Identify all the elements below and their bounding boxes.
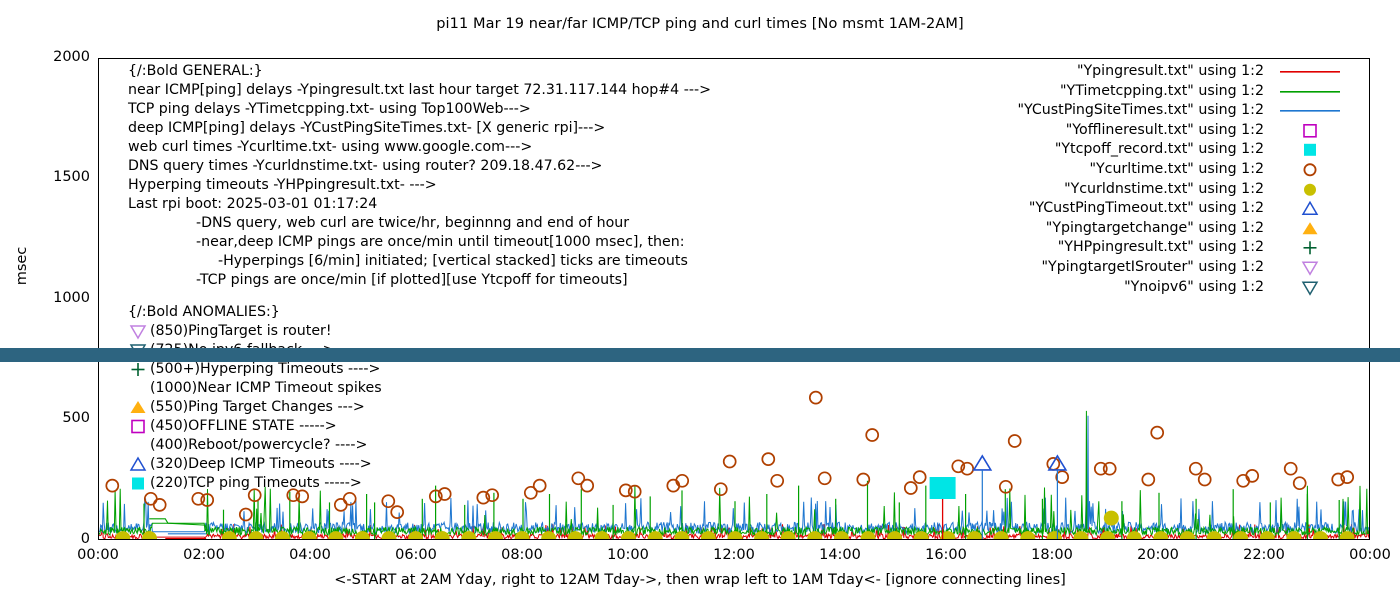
legend-entry[interactable]: "YTimetcpping.txt" using 1:2 (930, 82, 1362, 102)
anomaly-label: (220)TCP ping Timeouts -----> (150, 474, 362, 493)
legend-entry[interactable]: "YpingtargetISrouter" using 1:2 (930, 258, 1362, 278)
x-tick-9: 18:00 (1012, 547, 1092, 563)
legend-key-line-icon (1278, 101, 1362, 121)
anomaly-label: (450)OFFLINE STATE -----> (150, 417, 337, 436)
y-tick-0: 0 (16, 531, 90, 547)
y-tick-1500: 1500 (16, 169, 90, 185)
triangle-orange-filled-icon (128, 398, 150, 417)
legend-label: "Ycurltime.txt" using 1:2 (930, 160, 1278, 180)
general-line-4: DNS query times -Ycurldnstime.txt- using… (128, 157, 711, 176)
legend-entry[interactable]: "YCustPingTimeout.txt" using 1:2 (930, 199, 1362, 219)
marker-curl-time (391, 506, 403, 518)
marker-curl-time (866, 429, 878, 441)
legend-label: "YCustPingSiteTimes.txt" using 1:2 (930, 101, 1278, 121)
marker-curl-time (1199, 474, 1211, 486)
marker-dns-time (807, 531, 822, 540)
marker-curl-time (771, 475, 783, 487)
legend-entry[interactable]: "Ypingtargetchange" using 1:2 (930, 219, 1362, 239)
legend-label: "Ytcpoff_record.txt" using 1:2 (930, 140, 1278, 160)
marker-curl-time (1104, 463, 1116, 475)
legend-key-square-open-icon (1278, 121, 1362, 141)
down-triangle-teal-icon (128, 341, 150, 360)
legend-key-plus-icon (1278, 238, 1362, 258)
marker-dns-time (594, 531, 609, 540)
square-magenta-open-icon (128, 417, 150, 436)
general-heading: {/:Bold GENERAL:} (128, 62, 711, 81)
marker-deep-icmp-timeout (974, 456, 991, 470)
legend-key-square-filled-icon (1278, 140, 1362, 160)
x-tick-2: 04:00 (270, 547, 350, 563)
anomaly-row: (1000)Near ICMP Timeout spikes (128, 379, 382, 398)
x-tick-5: 10:00 (588, 547, 668, 563)
anomaly-row: (550)Ping Target Changes ---> (128, 398, 382, 417)
anomaly-label: (400)Reboot/powercycle? ----> (150, 436, 367, 455)
x-axis-caption: <-START at 2AM Yday, right to 12AM Tday-… (0, 572, 1400, 588)
general-line-0: near ICMP[ping] delays -Ypingresult.txt … (128, 81, 711, 100)
anomaly-row: (500+)Hyperping Timeouts ----> (128, 360, 382, 379)
marker-dns-time (1286, 531, 1301, 540)
general-note-2: -Hyperpings [6/min] initiated; [vertical… (218, 252, 711, 271)
marker-curl-time (810, 392, 822, 404)
anomaly-row: (320)Deep ICMP Timeouts ----> (128, 455, 382, 474)
marker-curl-time (240, 509, 252, 521)
chart-title: pi11 Mar 19 near/far ICMP/TCP ping and c… (0, 16, 1400, 32)
x-tick-10: 20:00 (1118, 547, 1198, 563)
legend-label: "Ycurldnstime.txt" using 1:2 (930, 180, 1278, 200)
marker-curl-time (1294, 477, 1306, 489)
legend-label: "YHPpingresult.txt" using 1:2 (930, 238, 1278, 258)
x-tick-7: 14:00 (800, 547, 880, 563)
legend-key-line-icon (1278, 82, 1362, 102)
general-line-2: deep ICMP[ping] delays -YCustPingSiteTim… (128, 119, 711, 138)
x-tick-0: 00:00 (58, 547, 138, 563)
anomaly-symbol-placeholder (128, 379, 150, 398)
marker-curl-time (106, 480, 118, 492)
anomaly-row: (725)No ipv6 fallback----> (128, 341, 382, 360)
chart-stage: pi11 Mar 19 near/far ICMP/TCP ping and c… (0, 0, 1400, 600)
legend-entry[interactable]: "Ycurldnstime.txt" using 1:2 (930, 180, 1362, 200)
marker-curl-time (819, 472, 831, 484)
x-tick-4: 08:00 (482, 547, 562, 563)
x-tick-11: 22:00 (1224, 547, 1304, 563)
anomaly-label: (850)PingTarget is router! (150, 322, 332, 341)
general-line-1: TCP ping delays -YTimetcpping.txt- using… (128, 100, 711, 119)
marker-dns-time (541, 531, 556, 540)
legend-key-triangle-filled-icon (1278, 219, 1362, 239)
marker-curl-time (344, 493, 356, 505)
marker-curl-time (1142, 474, 1154, 486)
general-line-6: Last rpi boot: 2025-03-01 01:17:24 (128, 195, 711, 214)
anomaly-row-list: (850)PingTarget is router!(725)No ipv6 f… (128, 322, 382, 493)
x-tick-1: 02:00 (164, 547, 244, 563)
marker-curl-time (335, 499, 347, 511)
y-axis-ticks: 2000 1500 1000 500 0 (8, 0, 90, 600)
anomaly-label: (320)Deep ICMP Timeouts ----> (150, 455, 372, 474)
general-note-3: -TCP pings are once/min [if plotted][use… (196, 271, 711, 290)
legend-label: "Ypingresult.txt" using 1:2 (930, 62, 1278, 82)
general-note-1: -near,deep ICMP pings are once/min until… (196, 233, 711, 252)
anomalies-heading: {/:Bold ANOMALIES:} (128, 303, 382, 322)
marker-curl-time (382, 495, 394, 507)
marker-dns-outlier (1104, 511, 1119, 526)
legend-entry[interactable]: "YHPpingresult.txt" using 1:2 (930, 238, 1362, 258)
marker-dns-time (435, 531, 450, 540)
triangle-blue-open-icon (128, 455, 150, 474)
marker-curl-time (905, 482, 917, 494)
x-tick-8: 16:00 (906, 547, 986, 563)
legend: "Ypingresult.txt" using 1:2"YTimetcpping… (930, 62, 1362, 297)
trace-tcp-gap-plateau (149, 519, 207, 532)
marker-curl-time (154, 499, 166, 511)
anomaly-row: (450)OFFLINE STATE -----> (128, 417, 382, 436)
legend-entry[interactable]: "Ytcpoff_record.txt" using 1:2 (930, 140, 1362, 160)
legend-key-dtriangle-open-icon (1278, 258, 1362, 278)
legend-key-triangle-open-icon (1278, 199, 1362, 219)
anomaly-label: (1000)Near ICMP Timeout spikes (150, 379, 382, 398)
marker-curl-time (581, 480, 593, 492)
x-tick-12: 00:00 (1330, 547, 1400, 563)
marker-curl-time (1151, 427, 1163, 439)
square-cyan-filled-icon (128, 474, 150, 493)
marker-curl-time (914, 471, 926, 483)
general-note-0: -DNS query, web curl are twice/hr, begin… (196, 214, 711, 233)
general-line-3: web curl times -Ycurltime.txt- using www… (128, 138, 711, 157)
legend-key-circle-filled-icon (1278, 180, 1362, 200)
anomaly-label: (725)No ipv6 fallback----> (150, 341, 335, 360)
legend-label: "YpingtargetISrouter" using 1:2 (930, 258, 1278, 278)
x-tick-3: 06:00 (376, 547, 456, 563)
legend-key-line-icon (1278, 62, 1362, 82)
marker-curl-time (1190, 463, 1202, 475)
anomaly-label: (550)Ping Target Changes ---> (150, 398, 365, 417)
legend-entry[interactable]: "Yofflineresult.txt" using 1:2 (930, 121, 1362, 141)
marker-curl-time (145, 493, 157, 505)
marker-curl-time (762, 453, 774, 465)
marker-dns-time (1153, 531, 1168, 540)
down-triangle-violet-icon (128, 322, 150, 341)
legend-entry[interactable]: "YCustPingSiteTimes.txt" using 1:2 (930, 101, 1362, 121)
anomaly-row: (400)Reboot/powercycle? ----> (128, 436, 382, 455)
x-tick-6: 12:00 (694, 547, 774, 563)
marker-curl-time (857, 474, 869, 486)
marker-curl-time (715, 483, 727, 495)
legend-label: "Yofflineresult.txt" using 1:2 (930, 121, 1278, 141)
legend-key-dtriangle-open-icon (1278, 278, 1362, 298)
legend-entry[interactable]: "Ycurltime.txt" using 1:2 (930, 160, 1362, 180)
anomalies-annotations: {/:Bold ANOMALIES:} (850)PingTarget is r… (128, 303, 382, 493)
marker-dns-time (1260, 531, 1275, 540)
marker-curl-time (1246, 470, 1258, 482)
anomaly-row: (850)PingTarget is router! (128, 322, 382, 341)
marker-curl-time (1237, 475, 1249, 487)
marker-curl-time (1009, 435, 1021, 447)
plus-green-icon (128, 360, 150, 379)
y-tick-1000: 1000 (16, 290, 90, 306)
marker-curl-time (1285, 463, 1297, 475)
legend-label: "YCustPingTimeout.txt" using 1:2 (930, 199, 1278, 219)
legend-entry[interactable]: "Ynoipv6" using 1:2 (930, 278, 1362, 298)
marker-curl-time (534, 480, 546, 492)
marker-curl-time (724, 456, 736, 468)
band-notch-right-icon (1370, 348, 1384, 362)
anomaly-label: (500+)Hyperping Timeouts ----> (150, 360, 380, 379)
legend-label: "Ynoipv6" using 1:2 (930, 278, 1278, 298)
anomaly-symbol-placeholder (128, 436, 150, 455)
y-tick-2000: 2000 (16, 49, 90, 65)
y-tick-500: 500 (16, 410, 90, 426)
marker-tcp-ping-timeout (930, 477, 956, 499)
legend-key-circle-open-icon (1278, 160, 1362, 180)
legend-entry[interactable]: "Ypingresult.txt" using 1:2 (930, 62, 1362, 82)
anomaly-row: (220)TCP ping Timeouts -----> (128, 474, 382, 493)
general-annotations: {/:Bold GENERAL:} near ICMP[ping] delays… (128, 62, 711, 290)
legend-label: "YTimetcpping.txt" using 1:2 (930, 82, 1278, 102)
general-line-5: Hyperping timeouts -YHPpingresult.txt- -… (128, 176, 711, 195)
legend-label: "Ypingtargetchange" using 1:2 (930, 219, 1278, 239)
